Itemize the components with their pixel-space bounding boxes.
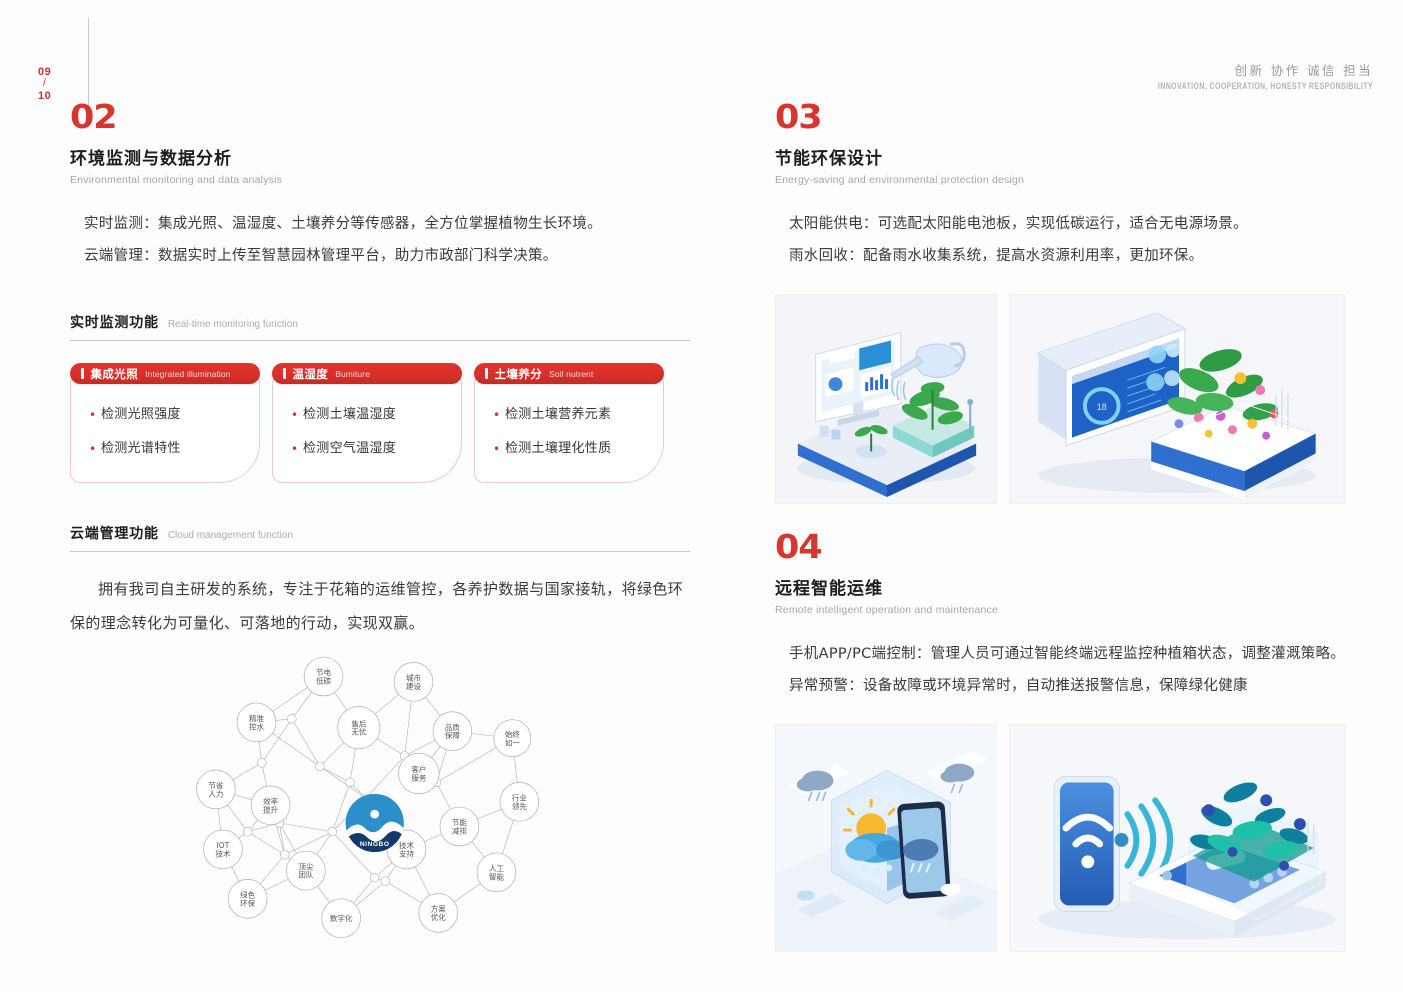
subsection-monitoring-title-cn: 实时监测功能 <box>70 312 159 332</box>
card-list-item: 检测光照强度 <box>89 398 259 432</box>
section-04-images <box>775 724 1355 952</box>
section-02-paragraph: 实时监测：集成光照、温湿度、土壤养分等传感器，全方位掌握植物生长环境。 <box>70 208 690 240</box>
card-tag-label-en: Integrated illumination <box>145 369 230 379</box>
section-02-paragraph: 云端管理：数据实时上传至智慧园林管理平台，助力市政部门科学决策。 <box>70 240 690 272</box>
card-list-item: 检测空气温湿度 <box>291 432 461 466</box>
monitoring-cards: 集成光照 Integrated illumination 检测光照强度 检测光谱… <box>70 363 690 483</box>
section-03-paragraph: 太阳能供电：可选配太阳能电池板，实现低碳运行，适合无电源场景。 <box>775 208 1355 240</box>
section-04-body: 手机APP/PC端控制：管理人员可通过智能终端远程监控种植箱状态，调整灌溉策略。… <box>775 638 1355 702</box>
card-tag: 土壤养分 Soil nutrent <box>474 363 664 384</box>
monitor-dashboard-plant-illustration <box>775 294 997 504</box>
section-02-body: 实时监测：集成光照、温湿度、土壤养分等传感器，全方位掌握植物生长环境。 云端管理… <box>70 208 690 272</box>
network-node-label: 数字化 <box>330 913 353 923</box>
page-number-current: 09 <box>38 66 51 78</box>
slogan-cn: 创新 协作 诚信 担当 <box>1158 60 1373 79</box>
network-node-label: 效率提升 <box>263 796 278 814</box>
card-item-list: 检测光照强度 检测光谱特性 <box>70 373 260 483</box>
section-03-images: 18 <box>775 294 1355 504</box>
card-tag: 集成光照 Integrated illumination <box>70 363 260 384</box>
section-02-title-cn: 环境监测与数据分析 <box>70 144 690 169</box>
network-hub-dot <box>346 778 355 787</box>
subsection-monitoring-title-en: Real-time monitoring function <box>168 319 298 330</box>
section-03-title-en: Energy-saving and environmental protecti… <box>775 174 1355 186</box>
network-node: 始终如一 <box>494 720 531 757</box>
card-tag-label-en: Soil nutrent <box>549 369 593 379</box>
subsection-cloud-title-cn: 云端管理功能 <box>70 523 159 543</box>
network-node-label: 节电低碳 <box>316 667 331 685</box>
section-03-number: 03 <box>775 100 1390 134</box>
subsection-monitoring-header: 实时监测功能 Real-time monitoring function <box>70 312 690 341</box>
network-node-label: 精准控水 <box>249 713 264 731</box>
section-02-title-en: Environmental monitoring and data analys… <box>70 174 690 186</box>
left-column: 02 环境监测与数据分析 Environmental monitoring an… <box>70 100 690 950</box>
network-node: 城市建设 <box>394 662 433 701</box>
subsection-cloud-title-en: Cloud management function <box>168 530 293 541</box>
network-node: IOT技术 <box>204 830 243 869</box>
network-node: 数字化 <box>322 899 361 938</box>
monitoring-card: 土壤养分 Soil nutrent 检测土壤营养元素 检测土壤理化性质 <box>474 363 664 483</box>
card-list-item: 检测土壤温湿度 <box>291 398 461 432</box>
network-node: 节省人力 <box>196 770 235 809</box>
network-hub-dot <box>328 827 337 836</box>
weather-smartwatch-phone-illustration <box>775 724 997 952</box>
section-04-title-cn: 远程智能运维 <box>775 574 1355 599</box>
network-node-label: 技术支持 <box>399 840 414 858</box>
network-node-label: 客户服务 <box>411 764 426 782</box>
section-03-paragraph: 雨水回收：配备雨水收集系统，提高水资源利用率，更加环保。 <box>775 240 1355 272</box>
phone-wifi-planter-illustration <box>1009 724 1345 952</box>
illustration-tablet-flowerbox: 18 <box>1010 295 1344 503</box>
card-tag-label-cn: 土壤养分 <box>495 366 543 382</box>
monitoring-card: 集成光照 Integrated illumination 检测光照强度 检测光谱… <box>70 363 260 483</box>
network-hub-dot <box>287 714 296 723</box>
network-node: 人工智能 <box>477 853 516 892</box>
subsection-cloud-header: 云端管理功能 Cloud management function <box>70 523 690 552</box>
network-node: 效率提升 <box>251 786 290 825</box>
section-04-title-en: Remote intelligent operation and mainten… <box>775 604 1355 616</box>
capability-network-diagram: 节电低碳城市建设精准控水售后无忧品质保障始终如一节省人力效率提升客户服务行业领先… <box>70 650 690 950</box>
card-tag-label-cn: 集成光照 <box>91 366 139 382</box>
network-hub-dot <box>316 762 325 771</box>
network-hub-dot <box>243 827 252 836</box>
card-tag-label-cn: 温湿度 <box>293 366 329 382</box>
network-node-label: 绿色环保 <box>240 890 255 908</box>
card-list-item: 检测土壤理化性质 <box>493 432 663 466</box>
card-list-item: 检测光谱特性 <box>89 432 259 466</box>
section-04-paragraph: 手机APP/PC端控制：管理人员可通过智能终端远程监控种植箱状态，调整灌溉策略。 <box>775 638 1355 670</box>
network-node-label: 节能减排 <box>452 817 467 835</box>
network-node-label: 始终如一 <box>505 729 520 747</box>
network-hub-dot <box>370 873 379 882</box>
network-node: 精准控水 <box>237 703 276 742</box>
network-node-label: 品质保障 <box>445 722 460 740</box>
network-node: 行业领先 <box>500 782 539 821</box>
network-node: 方案优化 <box>419 894 458 933</box>
brochure-page: 09 / 10 创新 协作 诚信 担当 INNOVATION, COOPERAT… <box>0 0 1403 992</box>
network-node-label: 方案优化 <box>431 904 446 922</box>
network-node: 顶尖团队 <box>286 851 325 890</box>
section-04-number: 04 <box>775 530 1390 564</box>
network-node-label: 行业领先 <box>512 792 527 810</box>
tag-accent-bar <box>283 368 286 379</box>
right-column: 03 节能环保设计 Energy-saving and environmenta… <box>775 100 1355 952</box>
illustration-monitor-plant <box>776 295 996 503</box>
network-node-label: 城市建设 <box>406 672 421 690</box>
card-list-item: 检测土壤营养元素 <box>493 398 663 432</box>
network-node-label: 顶尖团队 <box>298 861 313 879</box>
network-node-label: IOT技术 <box>215 841 230 858</box>
card-tag: 温湿度 Bumiture <box>272 363 462 384</box>
page-number-slash: / <box>38 78 51 90</box>
illustration-phone-wifi-planter <box>1010 725 1344 951</box>
slogan-en: INNOVATION, COOPERATION, HONESTY RESPONS… <box>1158 82 1373 91</box>
section-04-paragraph: 异常预警：设备故障或环境异常时，自动推送报警信息，保障绿化健康 <box>775 670 1355 702</box>
network-node: 节能减排 <box>440 807 479 846</box>
tag-accent-bar <box>81 368 84 379</box>
section-04-block: 04 远程智能运维 Remote intelligent operation a… <box>775 530 1355 952</box>
network-node: 绿色环保 <box>228 879 267 918</box>
network-node: 售后无忧 <box>338 706 380 748</box>
tablet-dashboard-flowerbox-illustration: 18 <box>1009 294 1345 504</box>
section-03-title-cn: 节能环保设计 <box>775 144 1355 169</box>
section-03-body: 太阳能供电：可选配太阳能电池板，实现低碳运行，适合无电源场景。 雨水回收：配备雨… <box>775 208 1355 272</box>
network-node: 客户服务 <box>399 753 440 794</box>
corporate-slogan: 创新 协作 诚信 担当 INNOVATION, COOPERATION, HON… <box>1158 60 1373 89</box>
network-hub-dot <box>257 759 266 768</box>
network-node-label: 节省人力 <box>208 780 223 798</box>
section-02-number: 02 <box>70 100 727 134</box>
page-number-total: 10 <box>38 90 51 102</box>
cloud-management-paragraph: 拥有我司自主研发的系统，专注于花箱的运维管控，各养护数据与国家接轨，将绿色环保的… <box>70 572 690 640</box>
tag-accent-bar <box>485 368 488 379</box>
monitoring-card: 温湿度 Bumiture 检测土壤温湿度 检测空气温湿度 <box>272 363 462 483</box>
network-hub-dot <box>280 850 289 859</box>
logo-wordmark: NINGBO <box>360 841 390 848</box>
svg-text:18: 18 <box>1097 402 1107 412</box>
network-svg: 节电低碳城市建设精准控水售后无忧品质保障始终如一节省人力效率提升客户服务行业领先… <box>70 650 690 950</box>
network-node-label: 售后无忧 <box>351 718 366 736</box>
illustration-weather-phone <box>776 725 996 951</box>
page-number-marker: 09 / 10 <box>38 66 51 102</box>
network-node: 品质保障 <box>433 712 472 751</box>
card-tag-label-en: Bumiture <box>335 369 370 379</box>
network-node-label: 人工智能 <box>489 864 504 881</box>
card-item-list: 检测土壤温湿度 检测空气温湿度 <box>272 373 462 483</box>
network-hub-dot <box>381 877 390 886</box>
card-item-list: 检测土壤营养元素 检测土壤理化性质 <box>474 373 664 483</box>
network-node: 节电低碳 <box>304 657 343 696</box>
